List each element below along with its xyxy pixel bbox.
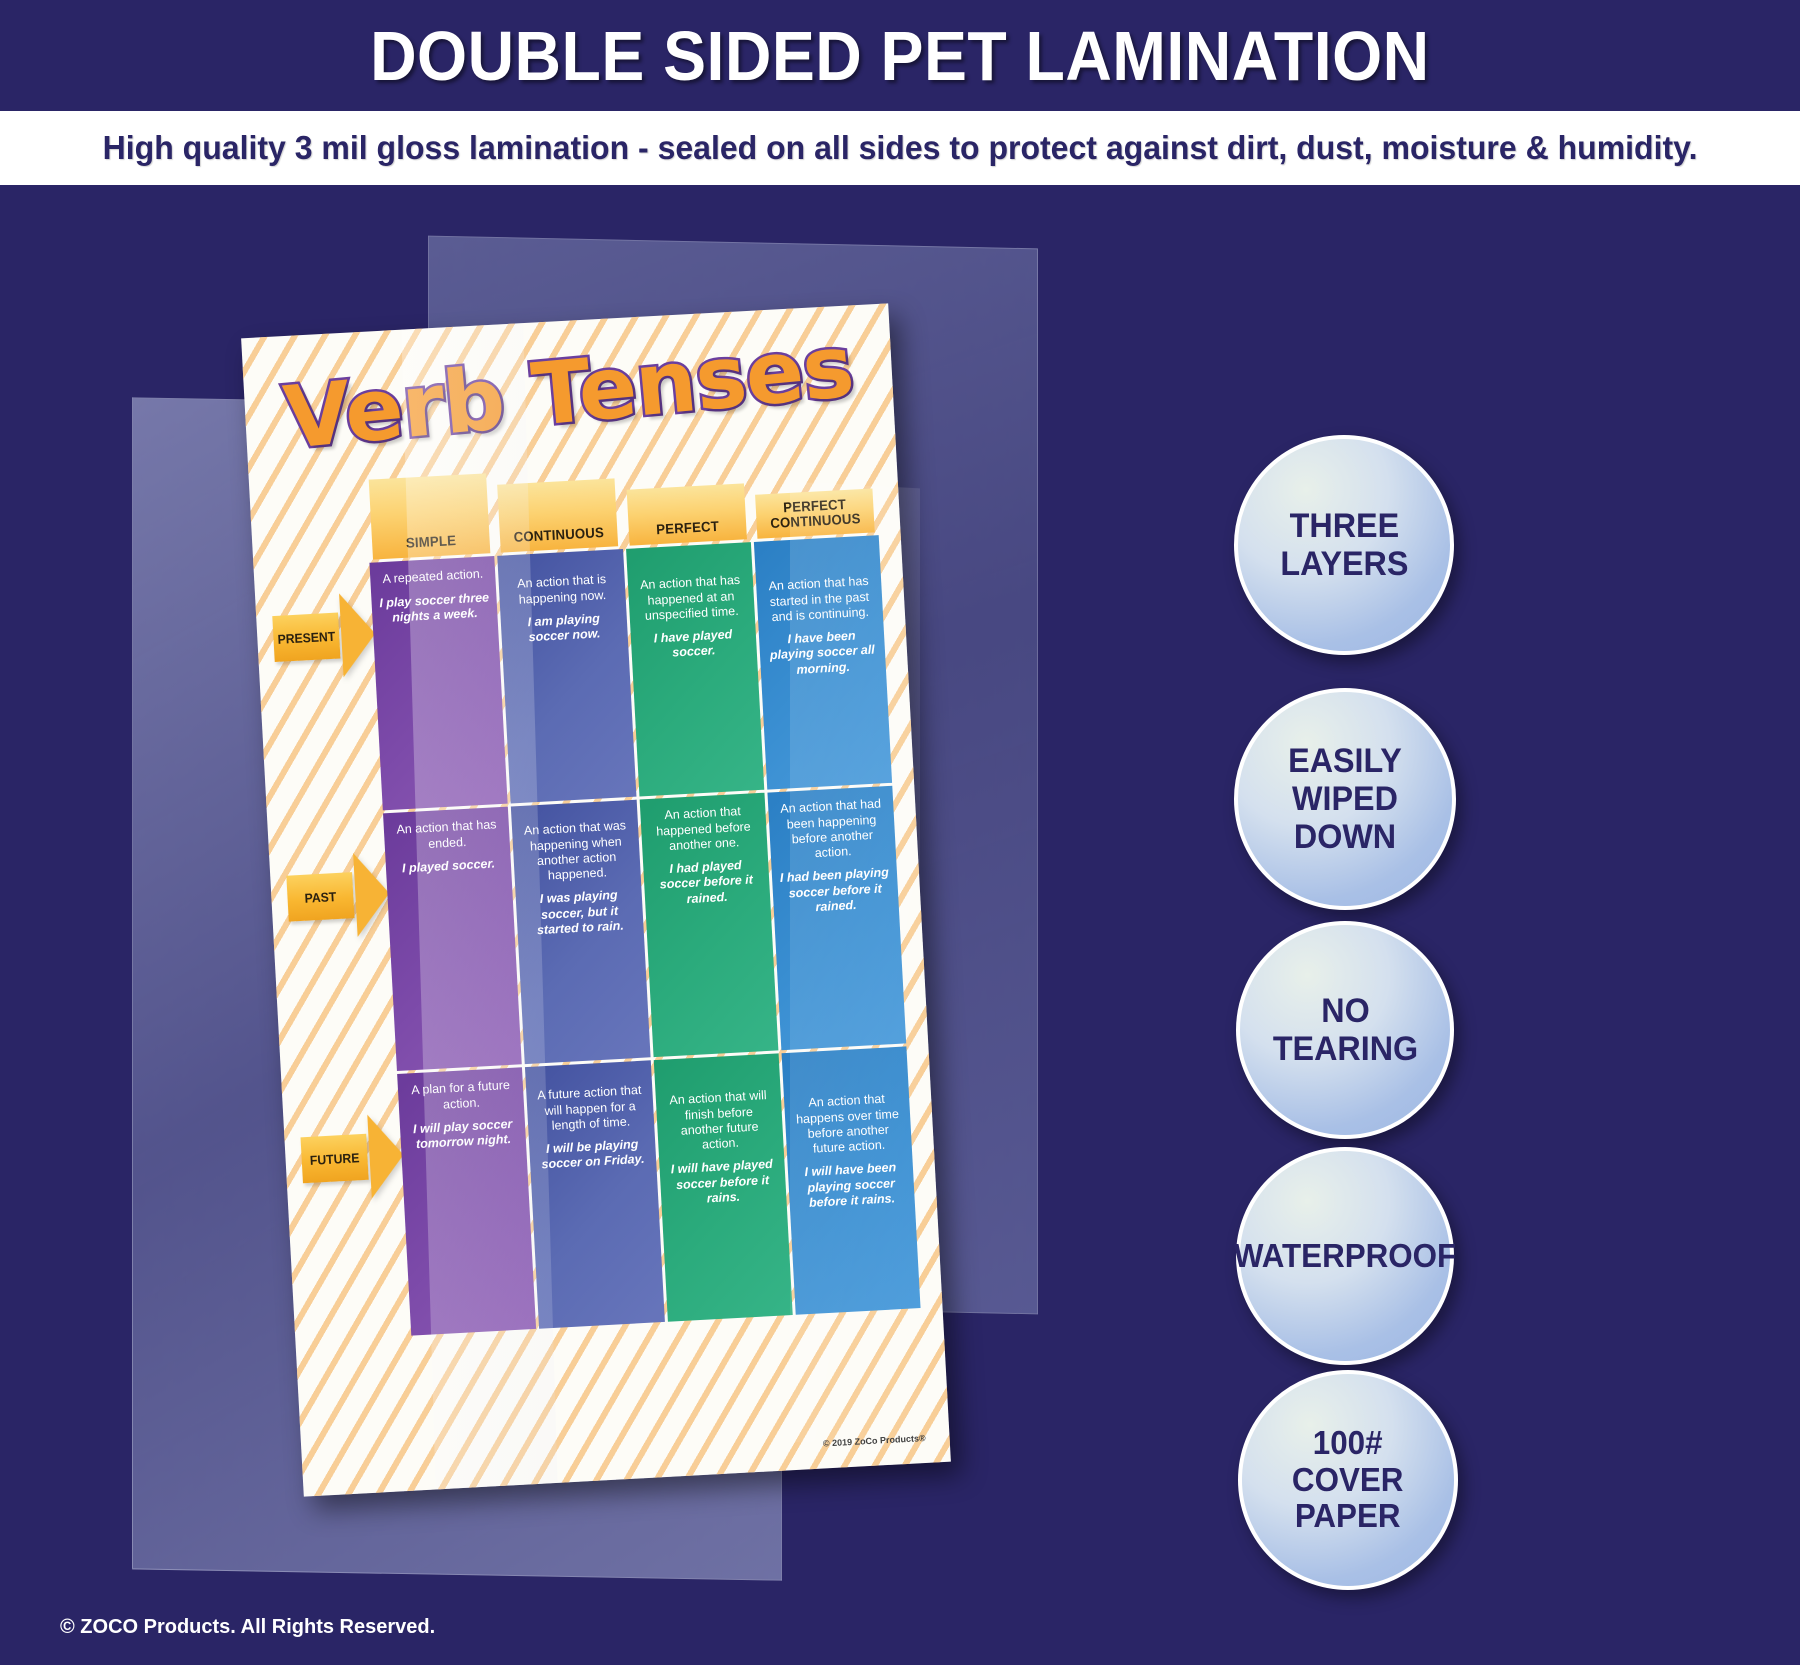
badge-line-1: NO <box>1272 992 1417 1030</box>
cell-definition: An action that had been happening before… <box>775 797 889 864</box>
feature-badge-no-tearing: NO TEARING <box>1236 921 1454 1139</box>
cell-future-perfect: An action that will finish before anothe… <box>653 1054 792 1322</box>
poster-credit: © 2019 ZoCo Products® <box>823 1433 926 1449</box>
footer-copyright: © ZOCO Products. All Rights Reserved. <box>60 1616 435 1639</box>
row-label-past: PAST <box>286 872 354 921</box>
cell-example: I will have been playing soccer before i… <box>794 1160 908 1212</box>
cell-future-perfect-continuous: An action that happens over time before … <box>781 1047 920 1315</box>
cell-definition: A repeated action. <box>377 567 489 588</box>
column-header-perfect: PERFECT <box>626 483 747 546</box>
row-label-future: FUTURE <box>301 1134 369 1183</box>
cell-example: I played soccer. <box>393 856 505 877</box>
badge-line-1: EASILY <box>1243 742 1446 780</box>
feature-badge-cover-paper: 100# COVER PAPER <box>1238 1370 1458 1590</box>
feature-badge-waterproof: WATERPROOF <box>1236 1147 1454 1365</box>
table-row: A repeated action. I play soccer three n… <box>369 536 892 811</box>
row-arrow-present: PRESENT <box>269 592 377 682</box>
table-row: A plan for a future action. I will play … <box>397 1047 920 1336</box>
column-header-simple: SIMPLE <box>369 473 491 560</box>
cell-example: I am playing soccer now. <box>508 610 621 646</box>
table-body: A repeated action. I play soccer three n… <box>369 536 920 1336</box>
badge-line-2: WIPED DOWN <box>1243 780 1446 856</box>
cell-example: I have played soccer. <box>637 626 750 662</box>
poster-surface: Verb Tenses PRESENT PAST FUTURE <box>241 303 951 1496</box>
page-title: DOUBLE SIDED PET LAMINATION <box>370 16 1430 96</box>
cell-future-simple: A plan for a future action. I will play … <box>397 1068 536 1336</box>
cell-past-simple: An action that has ended. I played socce… <box>383 807 522 1071</box>
cell-example: I have been playing soccer all morning. <box>766 628 880 680</box>
badge-line-1: 100# <box>1292 1425 1403 1462</box>
cell-future-continuous: A future action that will happen for a l… <box>525 1061 664 1329</box>
product-stage: Verb Tenses PRESENT PAST FUTURE <box>0 185 1800 1665</box>
cell-definition: An action that has happened at an unspec… <box>634 573 748 625</box>
row-label-present: PRESENT <box>272 613 340 662</box>
cell-definition: An action that will finish before anothe… <box>662 1088 776 1155</box>
badge-line-1: WATERPROOF <box>1234 1238 1456 1275</box>
cell-example: I had played soccer before it rained. <box>650 857 764 909</box>
verb-tenses-poster: Verb Tenses PRESENT PAST FUTURE <box>241 303 951 1496</box>
cell-definition: An action that happens over time before … <box>791 1091 905 1158</box>
cell-present-perfect: An action that has happened at an unspec… <box>626 542 764 796</box>
cell-past-perfect: An action that happened before another o… <box>639 793 778 1057</box>
cell-definition: An action that is happening now. <box>506 572 619 608</box>
cell-present-perfect-continuous: An action that has started in the past a… <box>754 536 892 790</box>
badge-line-3: PAPER <box>1292 1498 1403 1535</box>
table-row: An action that has ended. I played socce… <box>383 786 906 1071</box>
row-arrow-past: PAST <box>283 851 391 941</box>
cell-example: I had been playing soccer before it rain… <box>778 865 892 917</box>
feature-badge-three-layers: THREE LAYERS <box>1234 435 1454 655</box>
header-band: DOUBLE SIDED PET LAMINATION <box>0 0 1800 111</box>
cell-past-perfect-continuous: An action that had been happening before… <box>767 786 906 1050</box>
page-subtitle: High quality 3 mil gloss lamination - se… <box>103 129 1698 167</box>
column-header-perfect-continuous: PERFECT CONTINUOUS <box>755 488 875 539</box>
column-header-continuous: CONTINUOUS <box>497 478 618 553</box>
badge-line-2: LAYERS <box>1280 545 1408 583</box>
cell-example: I will have played soccer before it rain… <box>666 1157 780 1209</box>
row-arrow-future: FUTURE <box>297 1113 405 1203</box>
subtitle-band: High quality 3 mil gloss lamination - se… <box>0 111 1800 185</box>
badge-line-1: THREE <box>1280 507 1408 545</box>
badge-line-2: COVER <box>1292 1462 1403 1499</box>
poster-title: Verb Tenses <box>241 313 895 472</box>
cell-definition: A plan for a future action. <box>405 1078 518 1114</box>
cell-example: I was playing soccer, but it started to … <box>523 887 637 939</box>
cell-present-simple: A repeated action. I play soccer three n… <box>369 556 507 810</box>
cell-definition: An action that has started in the past a… <box>763 574 877 626</box>
cell-example: I will play soccer tomorrow night. <box>407 1116 520 1152</box>
cell-definition: An action that was happening when anothe… <box>519 818 633 885</box>
cell-example: I will be playing soccer on Friday. <box>536 1137 649 1173</box>
verb-tenses-table: SIMPLE CONTINUOUS PERFECT PERFECT CONTIN… <box>366 476 920 1339</box>
page-root: DOUBLE SIDED PET LAMINATION High quality… <box>0 0 1800 1665</box>
cell-definition: An action that happened before another o… <box>647 803 761 855</box>
cell-example: I play soccer three nights a week. <box>378 590 491 626</box>
feature-badge-easily-wiped-down: EASILY WIPED DOWN <box>1234 688 1456 910</box>
cell-present-continuous: An action that is happening now. I am pl… <box>498 549 636 803</box>
cell-past-continuous: An action that was happening when anothe… <box>511 800 650 1064</box>
cell-definition: An action that has ended. <box>391 817 504 853</box>
cell-definition: A future action that will happen for a l… <box>533 1083 647 1135</box>
badge-line-2: TEARING <box>1272 1030 1417 1068</box>
